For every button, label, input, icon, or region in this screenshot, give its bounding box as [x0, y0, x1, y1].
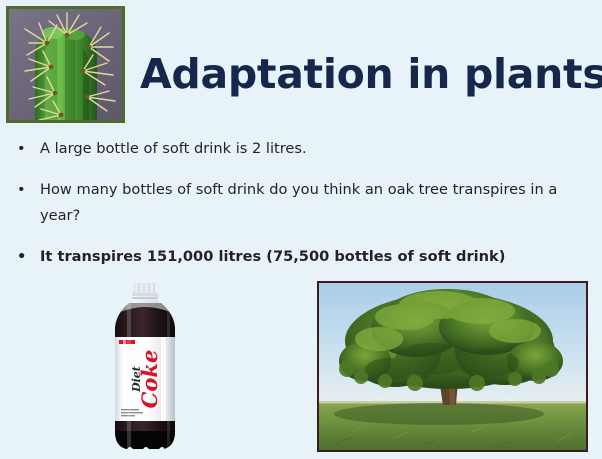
cactus-illustration: [9, 9, 122, 120]
diet-coke-bottle-photo: Diet Coke: [103, 281, 187, 453]
list-item-label: It transpires 151,000 litres (75,500 bot…: [40, 248, 505, 265]
bullet-marker-icon: •: [17, 177, 26, 203]
slide-header: Adaptation in plants: [0, 0, 602, 130]
list-item-label: How many bottles of soft drink do you th…: [40, 181, 557, 224]
bullet-marker-icon: •: [17, 136, 26, 162]
list-item: • A large bottle of soft drink is 2 litr…: [0, 136, 602, 162]
bullet-marker-icon: •: [17, 244, 26, 270]
oak-tree-photo: [317, 281, 588, 452]
bullet-list: • A large bottle of soft drink is 2 litr…: [0, 136, 602, 285]
bottle-brand-coke: Coke: [137, 350, 162, 409]
list-item: • How many bottles of soft drink do you …: [0, 177, 602, 229]
list-item: • It transpires 151,000 litres (75,500 b…: [0, 244, 602, 270]
list-item-label: A large bottle of soft drink is 2 litres…: [40, 140, 307, 157]
slide-canvas: Adaptation in plants • A large bottle of…: [0, 0, 602, 459]
bottle-illustration: Diet Coke: [103, 281, 187, 453]
cactus-photo: [6, 6, 125, 123]
page-title: Adaptation in plants: [140, 54, 602, 95]
tree-illustration: [319, 283, 586, 450]
